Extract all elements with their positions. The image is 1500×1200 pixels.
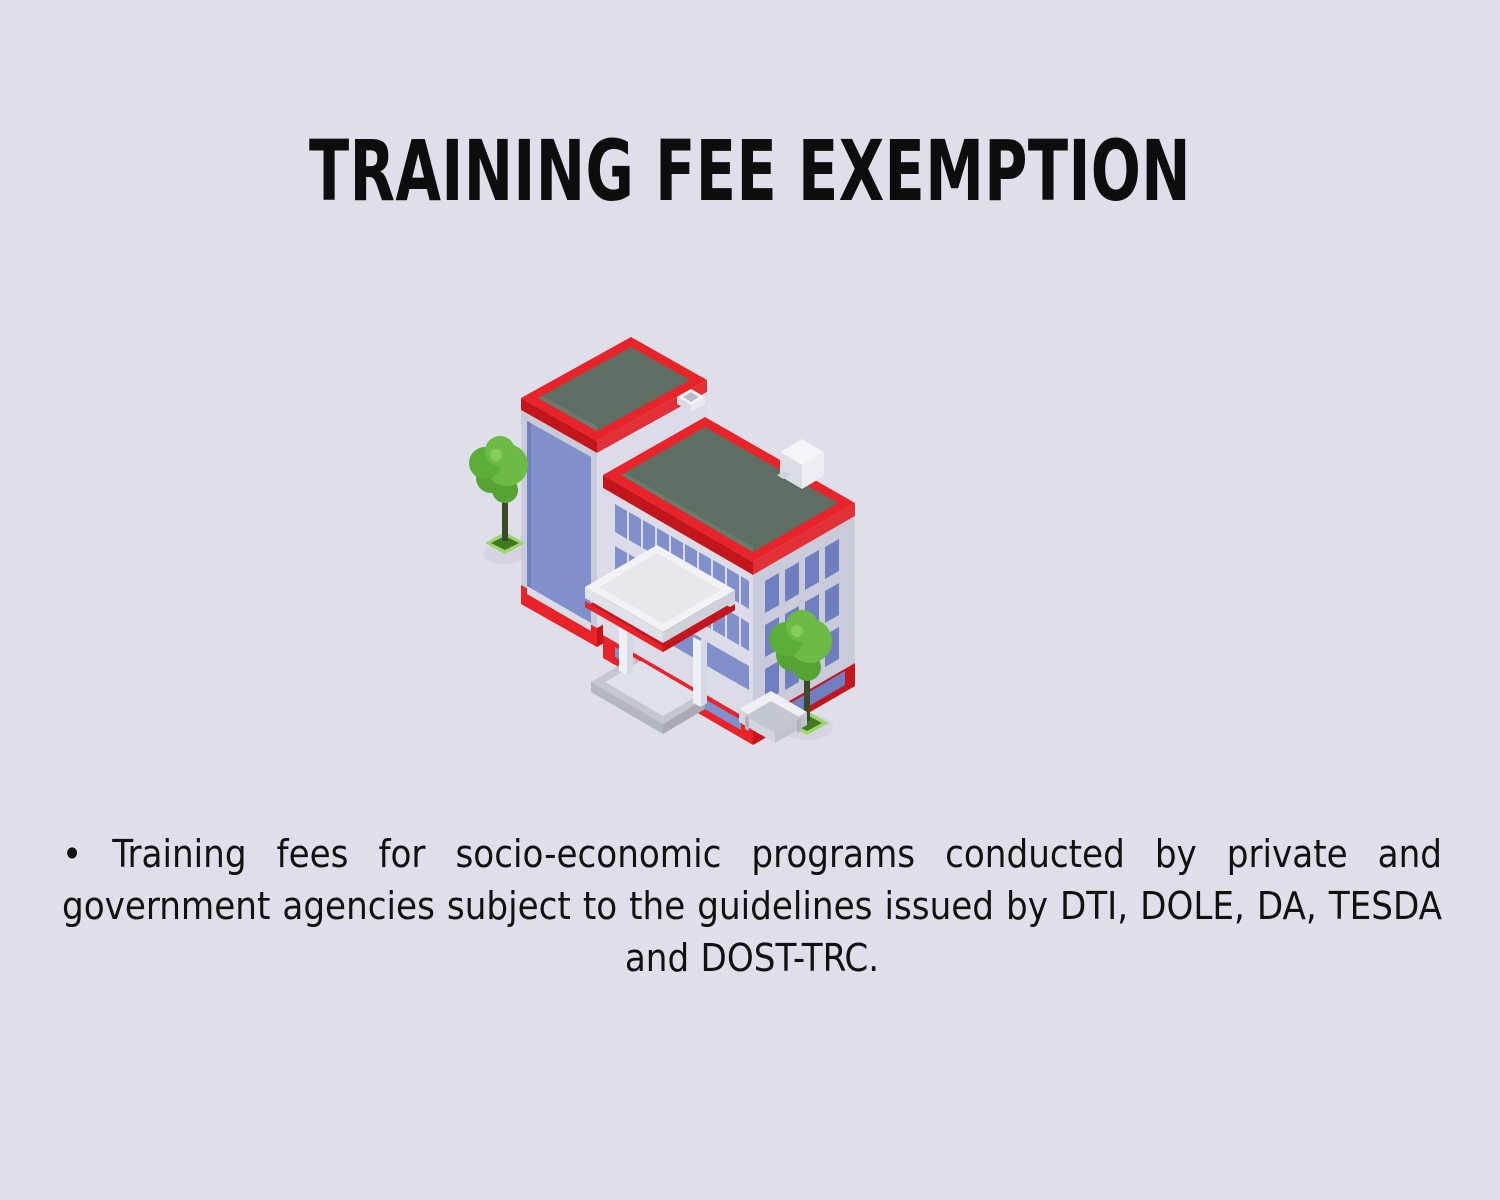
slide-root: TRAINING FEE EXEMPTION [0,0,1500,1200]
page-title: TRAINING FEE EXEMPTION [165,128,1335,214]
tower-glass-mullion [527,421,531,599]
tree-left-icon [469,436,528,554]
body-paragraph: • Training fees for socio-economic progr… [62,828,1442,984]
building-illustration [455,275,885,765]
isometric-building-svg [455,275,885,765]
